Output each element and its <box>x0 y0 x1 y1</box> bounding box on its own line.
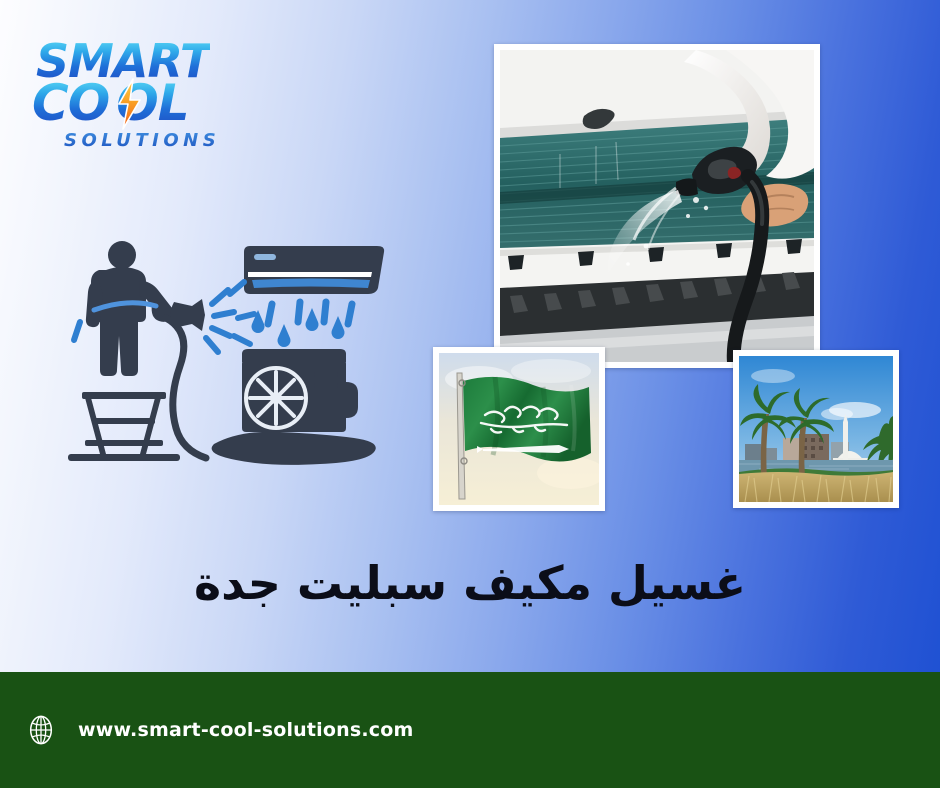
ac-cleaning-illustration <box>62 232 398 470</box>
jeddah-cityscape-photo <box>733 350 899 508</box>
page-title: غسيل مكيف سبليت جدة <box>0 556 940 611</box>
ac-coil-wash-graphic <box>500 50 814 362</box>
globe-icon <box>26 715 56 745</box>
logo-text-cool: COOL <box>32 78 189 128</box>
logo-cool-c: C <box>32 74 68 132</box>
photo-content <box>500 50 814 362</box>
saudi-flag-graphic <box>439 353 599 505</box>
ac-coil-pressure-wash-photo <box>494 44 820 368</box>
jeddah-cityscape-graphic <box>739 356 893 502</box>
lightning-bolt-icon <box>114 78 144 130</box>
logo-text-solutions: SOLUTIONS <box>64 130 220 151</box>
poster-canvas: SMART COOL SOLUTIONS <box>0 0 940 788</box>
logo-cool-o: O <box>68 74 117 132</box>
website-url[interactable]: www.smart-cool-solutions.com <box>78 719 414 741</box>
saudi-flag-photo <box>433 347 605 511</box>
brand-logo[interactable]: SMART COOL SOLUTIONS <box>28 38 208 148</box>
photo-content <box>739 356 893 502</box>
footer-bar: www.smart-cool-solutions.com <box>0 672 940 788</box>
photo-content <box>439 353 599 505</box>
